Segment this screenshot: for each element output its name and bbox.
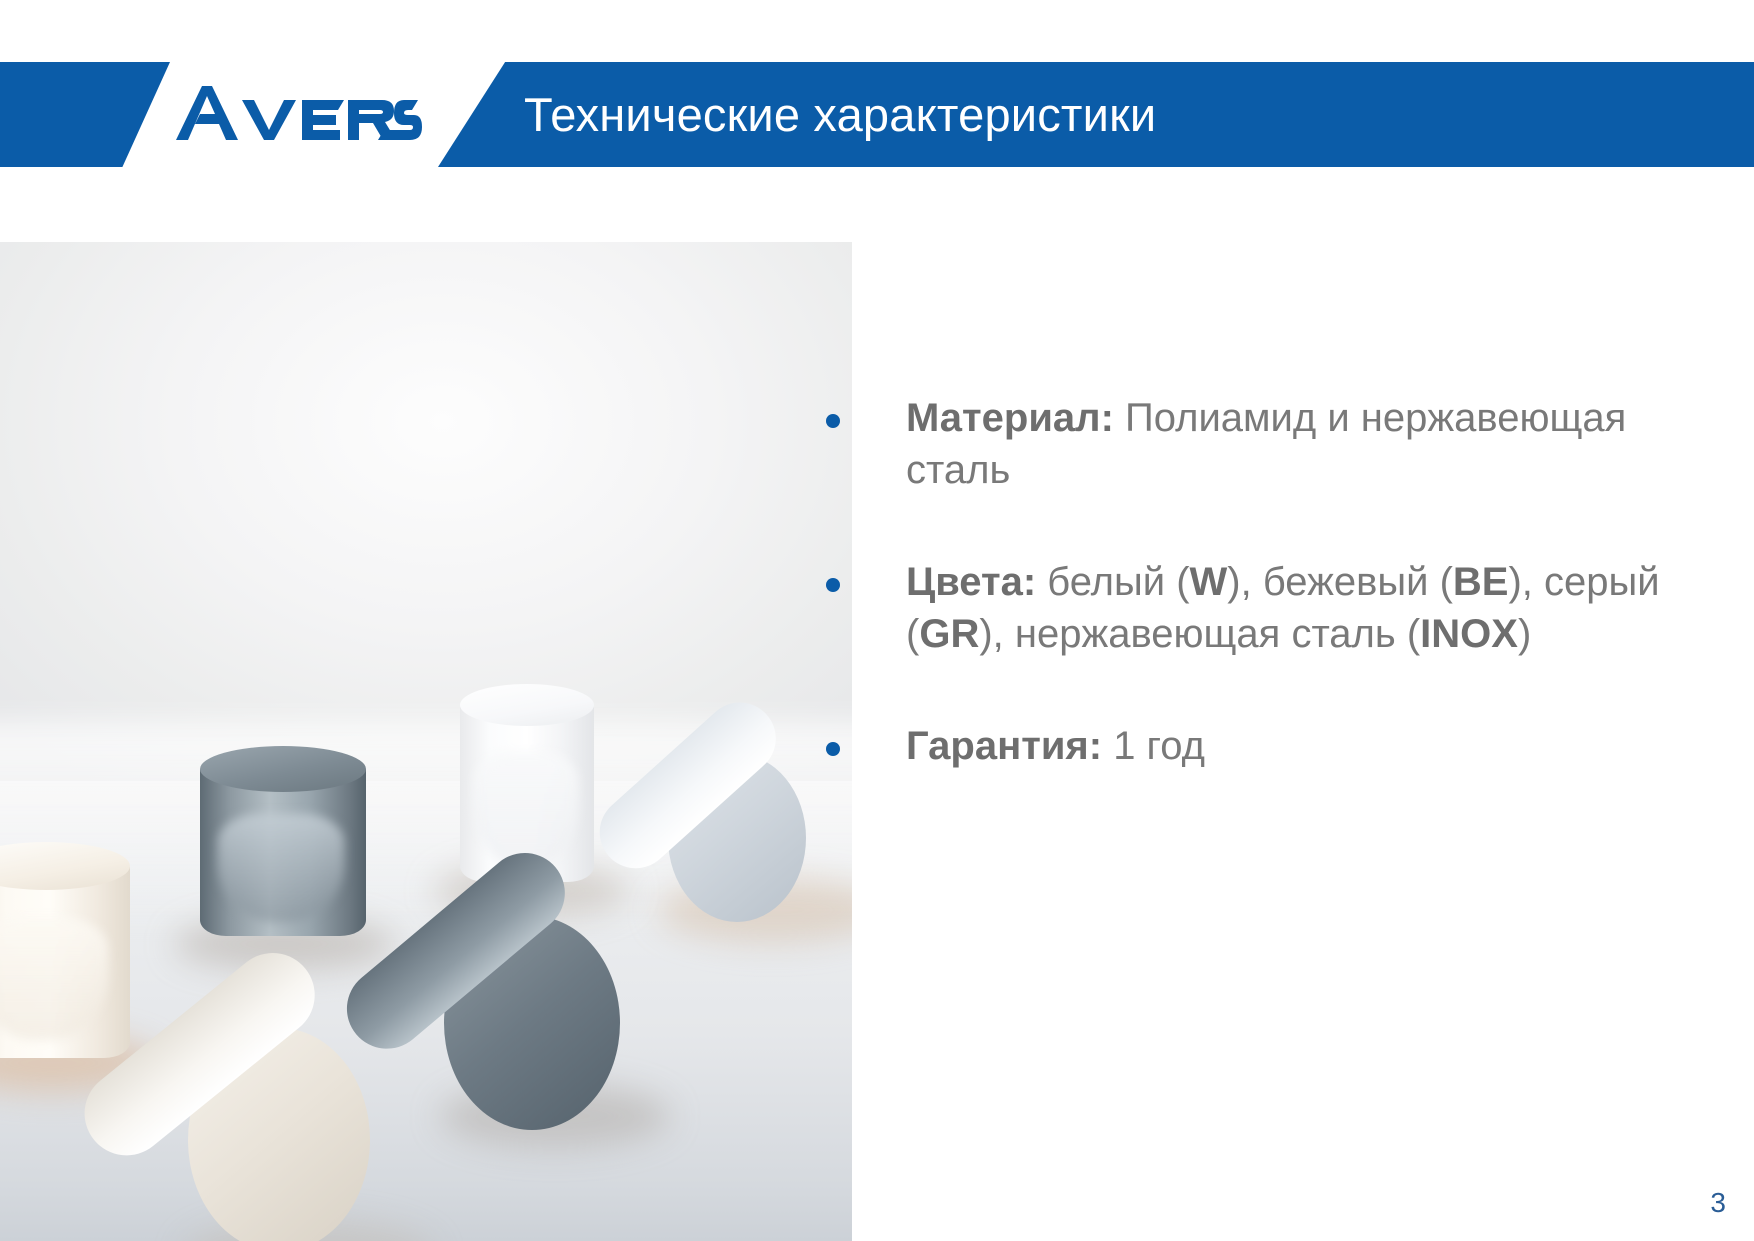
bullet-dot-icon <box>826 742 840 756</box>
bullet-dot-icon <box>826 414 840 428</box>
avers-logo <box>172 80 422 146</box>
specs-list: Материал: Полиамид и нержавеющая сталь Ц… <box>906 392 1696 772</box>
cap-beige-front <box>0 838 144 1088</box>
color-name: нержавеющая сталь <box>1015 612 1396 656</box>
spec-colors: Цвета: белый (W), бежевый (BE), серый (G… <box>906 556 1696 660</box>
color-name: бежевый <box>1263 560 1429 604</box>
spec-label: Цвета: <box>906 560 1036 604</box>
bullet-dot-icon <box>826 578 840 592</box>
color-code: W <box>1190 560 1228 604</box>
spec-material: Материал: Полиамид и нержавеющая сталь <box>906 392 1696 496</box>
list-item: Гарантия: 1 год <box>906 720 1696 772</box>
spec-label: Материал: <box>906 396 1114 440</box>
page-title: Технические характеристики <box>524 62 1156 167</box>
list-item: Цвета: белый (W), бежевый (BE), серый (G… <box>906 556 1696 660</box>
cap-gloss <box>474 752 578 868</box>
spec-value: 1 год <box>1102 724 1205 768</box>
spec-warranty: Гарантия: 1 год <box>906 720 1696 772</box>
spec-label: Гарантия: <box>906 724 1102 768</box>
cap-top <box>200 746 366 792</box>
page-number: 3 <box>1710 1187 1726 1219</box>
product-photo <box>0 242 852 1241</box>
handle-white-front <box>178 984 508 1241</box>
header-left-accent-shape <box>0 62 170 167</box>
list-item: Материал: Полиамид и нержавеющая сталь <box>906 392 1696 496</box>
color-code: BE <box>1453 560 1509 604</box>
color-code: INOX <box>1420 612 1518 656</box>
color-code: GR <box>919 612 979 656</box>
color-name: белый <box>1047 560 1165 604</box>
cap-gloss <box>218 814 344 922</box>
photo-background <box>0 242 852 1241</box>
cap-gray-back <box>190 742 376 972</box>
cap-top <box>460 684 594 726</box>
color-name: серый <box>1544 560 1660 604</box>
slide-header: Технические характеристики <box>0 0 1754 180</box>
